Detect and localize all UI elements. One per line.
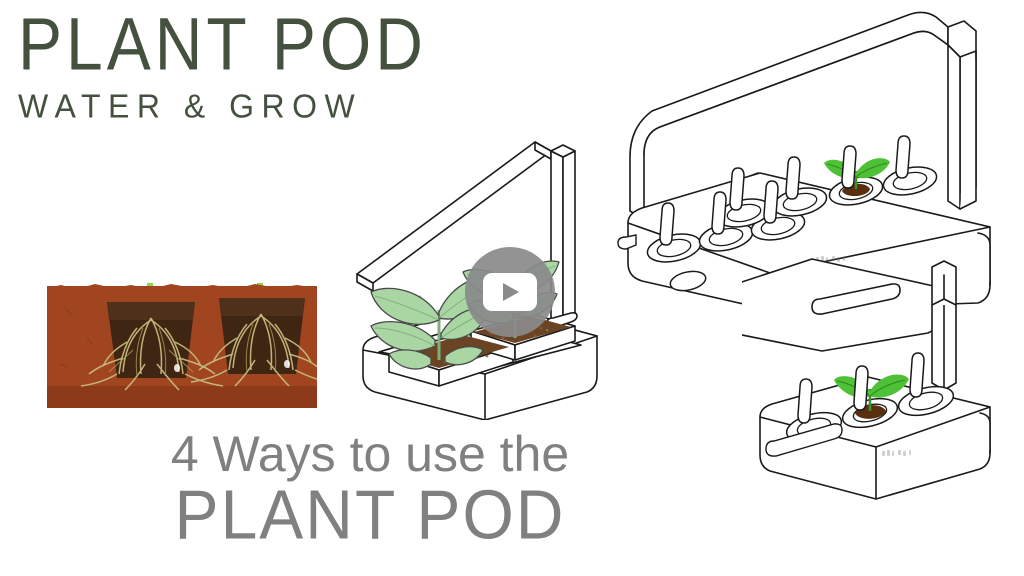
device-bottom-right-svg: [742, 255, 1024, 530]
brand-title-block: PLANT POD WATER & GROW: [18, 8, 427, 124]
seedling-soil-svg: [47, 283, 317, 408]
headline-line-2: PLANT POD: [0, 479, 740, 549]
headline-line-1: 4 Ways to use the: [0, 428, 740, 481]
headline-block: 4 Ways to use the PLANT POD: [0, 428, 740, 545]
play-triangle-icon: [503, 283, 519, 301]
device-bottom-right-three-pod: [742, 255, 1024, 530]
seedling-soil-illustration: [47, 283, 317, 408]
thumbnail-canvas: PLANT POD WATER & GROW: [0, 0, 1024, 576]
video-play-button[interactable]: [465, 247, 555, 337]
brand-title-primary: PLANT POD: [18, 8, 427, 80]
